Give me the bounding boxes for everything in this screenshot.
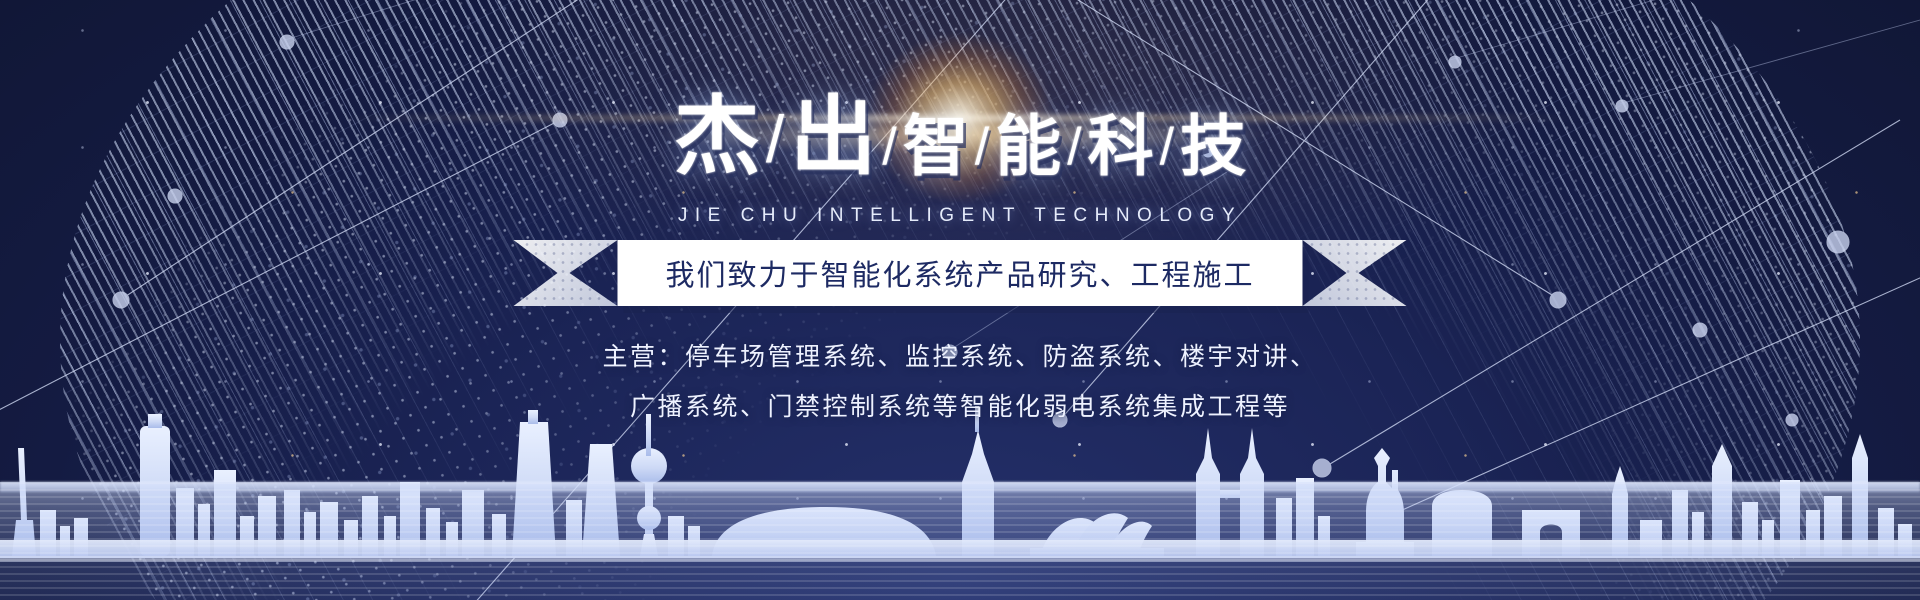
flare-horizontal-streak: [335, 115, 1585, 121]
tagline-ribbon: 我们致力于智能化系统产品研究、工程施工: [513, 240, 1406, 306]
shoreline: [0, 482, 1920, 492]
ribbon-tail-right: [1303, 240, 1407, 306]
hero-banner: 杰 / 出 / 智 / 能 / 科 / 技 JIE CHU INTELLIGEN…: [0, 0, 1920, 600]
service-description: 主营：停车场管理系统、监控系统、防盗系统、楼宇对讲、 广播系统、门禁控制系统等智…: [0, 332, 1920, 432]
ribbon-text: 我们致力于智能化系统产品研究、工程施工: [665, 252, 1254, 294]
ribbon-body: 我们致力于智能化系统产品研究、工程施工: [617, 240, 1302, 306]
description-line-1: 主营：停车场管理系统、监控系统、防盗系统、楼宇对讲、: [0, 332, 1920, 382]
ribbon-tail-left: [513, 240, 617, 306]
description-line-2: 广播系统、门禁控制系统等智能化弱电系统集成工程等: [0, 382, 1920, 432]
subtitle-english: JIE CHU INTELLIGENT TECHNOLOGY: [0, 205, 1920, 227]
